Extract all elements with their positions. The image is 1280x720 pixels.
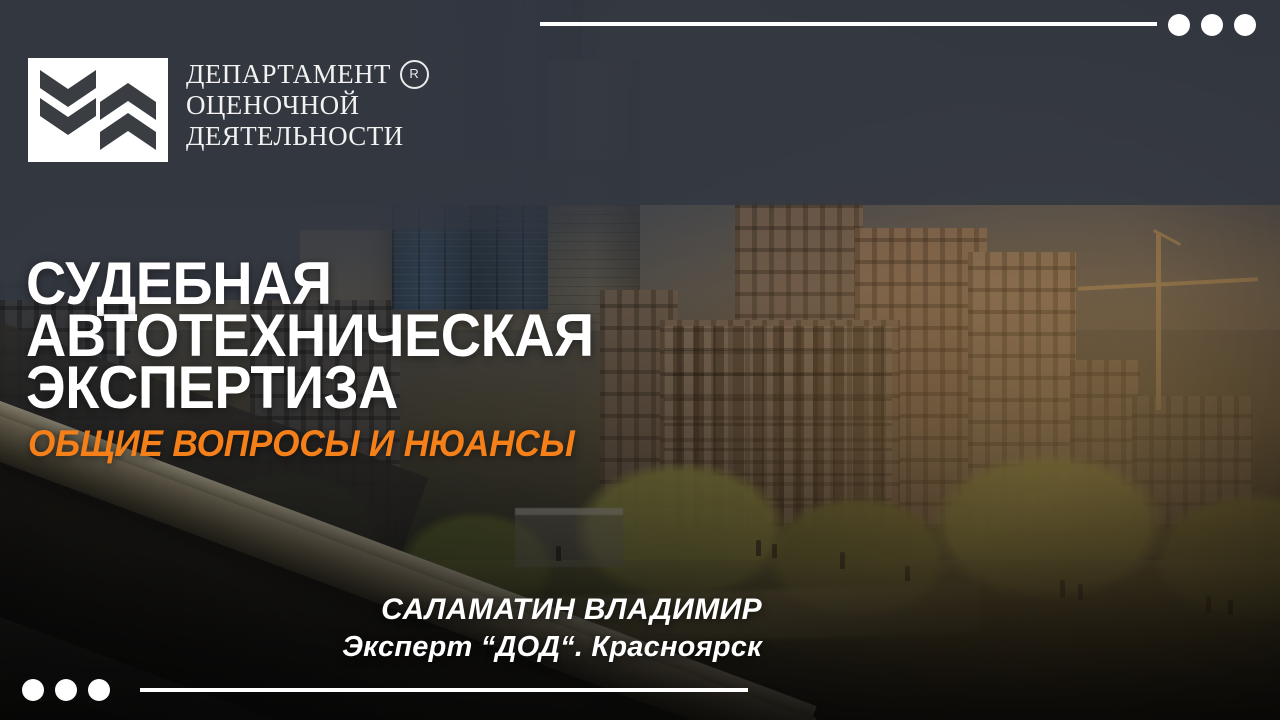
dot: [22, 679, 44, 701]
brand-name: ДЕПАРТАМЕНТ R ОЦЕНОЧНОЙ ДЕЯТЕЛЬНОСТИ: [186, 58, 429, 152]
bottom-divider-line: [140, 688, 748, 692]
brand-name-line-1: ДЕПАРТАМЕНТ: [186, 59, 391, 90]
slide-title: СУДЕБНАЯ АВТОТЕХНИЧЕСКАЯ ЭКСПЕРТИЗА: [26, 258, 677, 414]
bottom-dots-decor: [22, 679, 110, 701]
dot: [1201, 14, 1223, 36]
presenter-role: Эксперт “ДОД“. Красноярск: [0, 628, 762, 666]
brand-name-line-3: ДЕЯТЕЛЬНОСТИ: [186, 121, 429, 152]
presentation-slide: ДЕПАРТАМЕНТ R ОЦЕНОЧНОЙ ДЕЯТЕЛЬНОСТИ СУД…: [0, 0, 1280, 720]
dot: [1234, 14, 1256, 36]
dot: [55, 679, 77, 701]
headline-block: СУДЕБНАЯ АВТОТЕХНИЧЕСКАЯ ЭКСПЕРТИЗА ОБЩИ…: [26, 258, 726, 464]
slide-subtitle: ОБЩИЕ ВОПРОСЫ И НЮАНСЫ: [28, 424, 691, 464]
presenter-block: САЛАМАТИН ВЛАДИМИР Эксперт “ДОД“. Красно…: [0, 592, 762, 666]
dot: [88, 679, 110, 701]
dot: [1168, 14, 1190, 36]
chevrons-logo-icon: [28, 58, 168, 162]
presenter-name: САЛАМАТИН ВЛАДИМИР: [0, 592, 762, 628]
brand-lockup: ДЕПАРТАМЕНТ R ОЦЕНОЧНОЙ ДЕЯТЕЛЬНОСТИ: [28, 58, 429, 162]
registered-trademark-icon: R: [400, 60, 429, 89]
title-line-3: ЭКСПЕРТИЗА: [26, 362, 677, 414]
top-dots-decor: [1168, 14, 1256, 36]
brand-name-line-2: ОЦЕНОЧНОЙ: [186, 90, 429, 121]
top-divider-line: [540, 22, 1157, 26]
